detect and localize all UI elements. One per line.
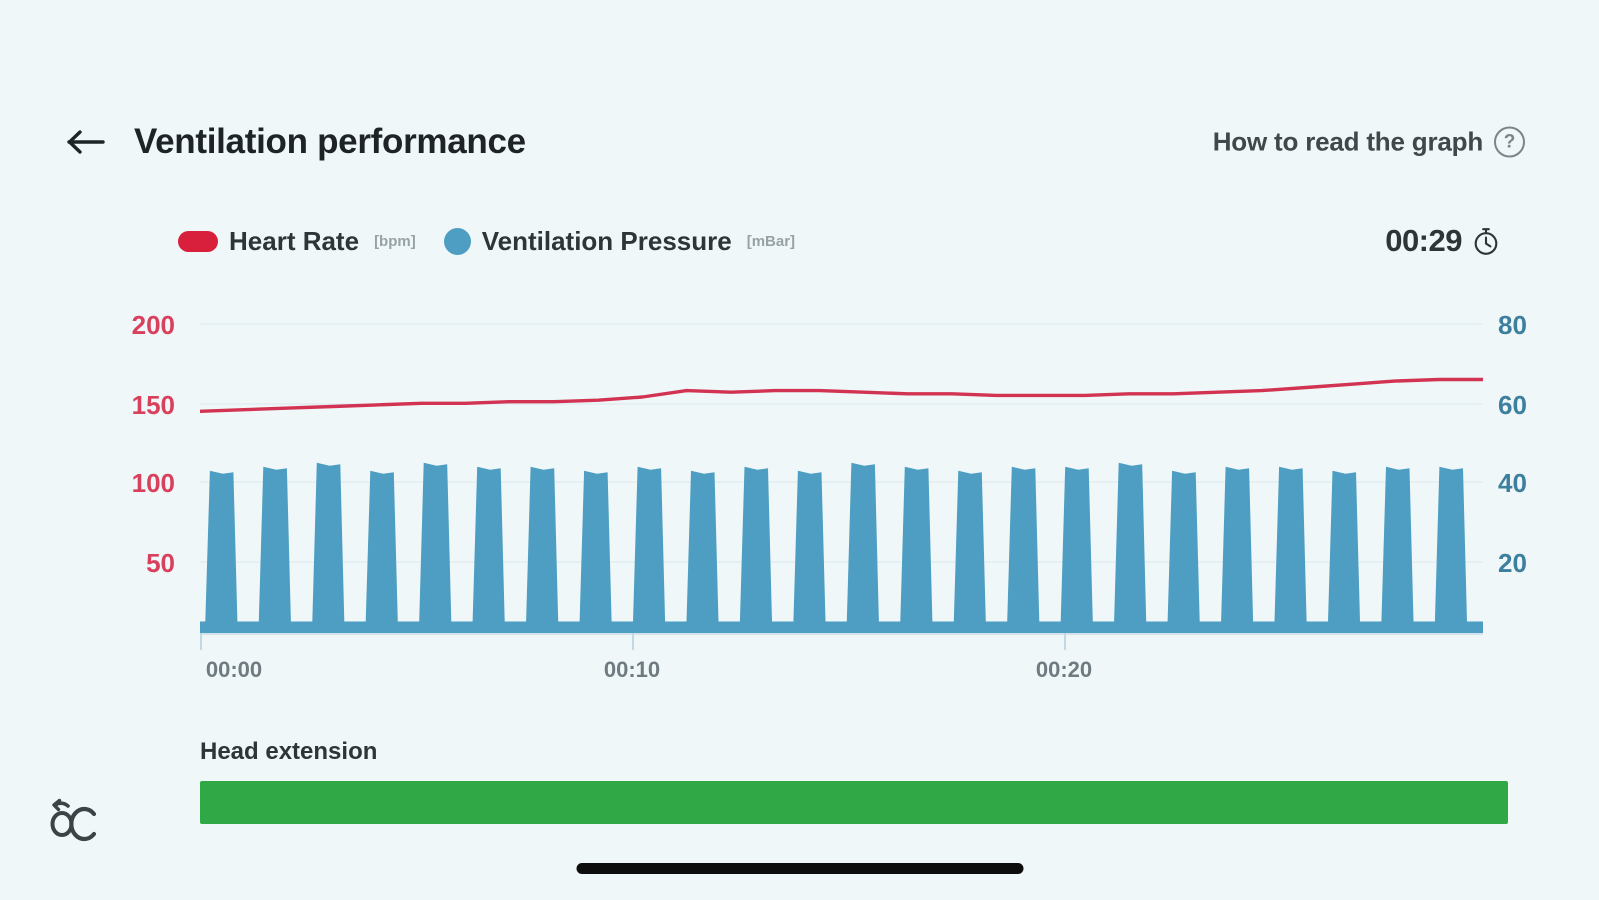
x-axis-tick-mark bbox=[632, 633, 634, 650]
question-circle-icon: ? bbox=[1494, 127, 1525, 158]
elapsed-timer-value: 00:29 bbox=[1385, 223, 1462, 259]
chart-legend: Heart Rate [bpm] Ventilation Pressure [m… bbox=[178, 212, 795, 270]
left-axis-heart-rate: 200 150 100 50 bbox=[100, 288, 175, 648]
screen-rotate-glyph bbox=[42, 788, 104, 850]
arrow-left-icon bbox=[67, 129, 107, 155]
x-axis-line bbox=[200, 633, 1483, 635]
right-axis-tick: 20 bbox=[1498, 550, 1527, 576]
page-header: Ventilation performance How to read the … bbox=[0, 104, 1599, 180]
screen-rotate-icon[interactable] bbox=[42, 788, 104, 850]
left-axis-tick: 150 bbox=[132, 392, 175, 418]
page-title: Ventilation performance bbox=[134, 122, 526, 162]
right-axis-tick: 80 bbox=[1498, 312, 1527, 338]
left-axis-tick: 50 bbox=[146, 550, 175, 576]
ventilation-pressure-area bbox=[200, 463, 1483, 633]
how-to-read-graph-button[interactable]: How to read the graph ? bbox=[1213, 127, 1525, 158]
right-axis-tick: 60 bbox=[1498, 392, 1527, 418]
left-axis-tick: 100 bbox=[132, 470, 175, 496]
heart-rate-swatch-icon bbox=[178, 231, 218, 252]
chart-plot-area bbox=[200, 288, 1483, 633]
heart-rate-line bbox=[200, 380, 1483, 412]
head-extension-status-bar bbox=[200, 781, 1508, 824]
chart-svg bbox=[200, 288, 1483, 633]
home-indicator[interactable] bbox=[576, 863, 1023, 874]
x-axis: 00:00 00:10 00:20 bbox=[200, 633, 1483, 693]
x-axis-tick-label: 00:00 bbox=[206, 657, 262, 683]
how-to-read-graph-label: How to read the graph bbox=[1213, 127, 1483, 158]
left-axis-tick: 200 bbox=[132, 312, 175, 338]
legend-item-heart-rate[interactable]: Heart Rate [bpm] bbox=[178, 226, 416, 257]
x-axis-tick-label: 00:10 bbox=[604, 657, 660, 683]
legend-unit-heart-rate: [bpm] bbox=[374, 233, 416, 250]
elapsed-timer: 00:29 bbox=[1385, 212, 1501, 270]
head-extension-label: Head extension bbox=[200, 738, 377, 766]
right-axis-ventilation-pressure: 80 60 40 20 bbox=[1498, 288, 1578, 648]
legend-label-heart-rate: Heart Rate bbox=[229, 226, 359, 257]
right-axis-tick: 40 bbox=[1498, 470, 1527, 496]
legend-row: Heart Rate [bpm] Ventilation Pressure [m… bbox=[0, 212, 1599, 270]
ventilation-performance-screen: Ventilation performance How to read the … bbox=[0, 0, 1599, 900]
x-axis-tick-label: 00:20 bbox=[1036, 657, 1092, 683]
legend-label-ventilation-pressure: Ventilation Pressure bbox=[482, 226, 732, 257]
ventilation-chart: 200 150 100 50 80 60 40 20 bbox=[0, 288, 1599, 698]
x-axis-tick-mark bbox=[1064, 633, 1066, 650]
head-extension-section: Head extension bbox=[0, 728, 1599, 846]
stopwatch-icon bbox=[1471, 226, 1501, 256]
ventilation-pressure-swatch-icon bbox=[444, 228, 471, 255]
legend-unit-ventilation-pressure: [mBar] bbox=[747, 233, 795, 250]
x-axis-tick-mark bbox=[200, 633, 202, 650]
legend-item-ventilation-pressure[interactable]: Ventilation Pressure [mBar] bbox=[444, 226, 795, 257]
back-button[interactable] bbox=[66, 121, 108, 163]
